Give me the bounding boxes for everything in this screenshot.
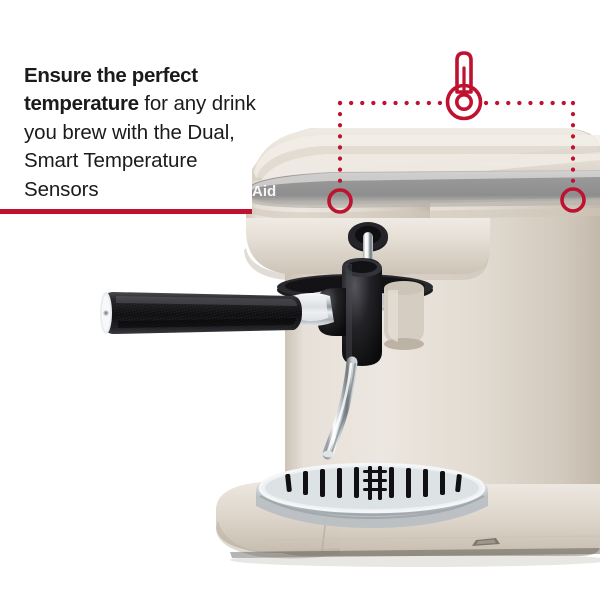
accent-rule: [0, 209, 252, 214]
drip-tray-grate: [256, 464, 488, 528]
portafilter-handle: [100, 292, 302, 334]
brand-band: Aid: [250, 170, 600, 208]
promo-banner: Aid: [0, 0, 600, 600]
headline: Ensure the perfect temperature for any d…: [24, 62, 256, 204]
